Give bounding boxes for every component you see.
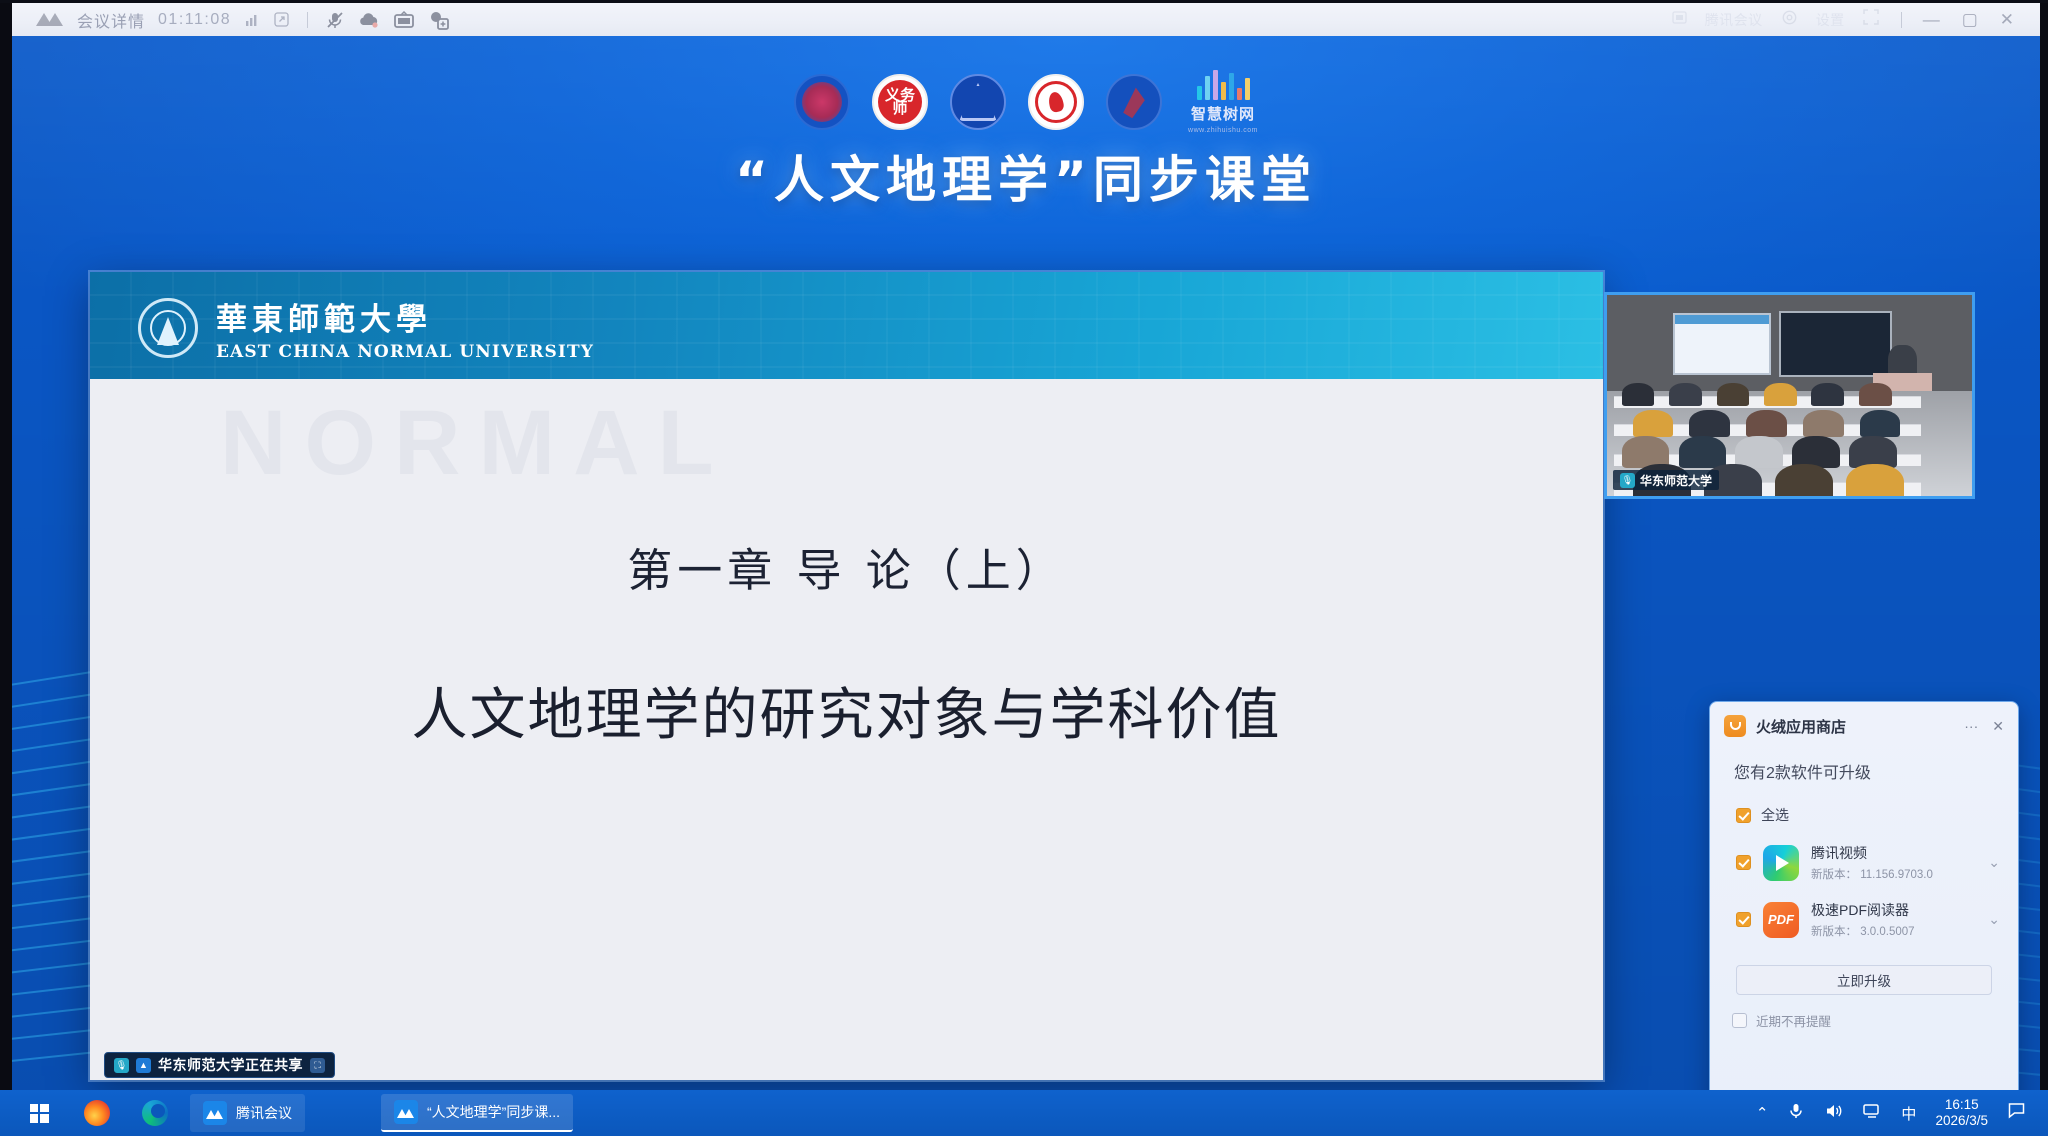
meeting-timer: 01:11:08 (158, 11, 231, 29)
update-item-checkbox[interactable] (1736, 855, 1751, 870)
meeting-title-label: 腾讯会议 (1705, 10, 1763, 30)
university-logo-3-icon (950, 74, 1006, 130)
update-item-name: 腾讯视频 (1811, 843, 1933, 863)
classroom-video (1607, 295, 1972, 496)
taskbar-firefox-button[interactable] (68, 1090, 126, 1136)
maximize-button[interactable]: ▢ (1962, 11, 1978, 28)
settings-label[interactable]: 设置 (1816, 10, 1845, 30)
university-logo-2-icon: 义务师 (872, 74, 928, 130)
university-logo-5-icon (1106, 74, 1162, 130)
university-logo-1-icon (794, 74, 850, 130)
slide-watermark: NORMAL (220, 391, 732, 496)
chevron-down-icon[interactable]: ⌄ (1988, 911, 2004, 928)
toolbar-divider (307, 12, 308, 28)
update-item-row[interactable]: 腾讯视频 新版本： 11.156.9703.0 ⌄ (1710, 825, 2018, 882)
share-screen-icon[interactable] (428, 10, 450, 30)
huorong-title: 火绒应用商店 (1756, 716, 1846, 737)
upgrade-now-button[interactable]: 立即升级 (1736, 965, 1992, 995)
ecnu-branding: 華東師範大學 EAST CHINA NORMAL UNIVERSITY (138, 294, 594, 362)
popout-icon[interactable] (273, 11, 290, 28)
close-button[interactable]: ✕ (2000, 11, 2014, 28)
firefox-icon (84, 1100, 110, 1126)
mic-video-icon: 🎙 (1620, 473, 1635, 488)
mic-small-icon: 🎙 (114, 1058, 129, 1073)
huorong-logo-icon (1724, 715, 1746, 737)
zhihuishu-name: 智慧树网 (1191, 103, 1255, 124)
ecnu-name-cn: 華東師範大學 (216, 294, 594, 339)
ime-indicator[interactable]: 中 (1901, 1103, 1916, 1124)
taskbar-clock[interactable]: 16:15 2026/3/5 (1935, 1097, 1988, 1129)
photo-bezel-right (2040, 0, 2048, 1136)
tencent-video-icon (1763, 845, 1799, 881)
banner-title: “人文地理学”同步课堂 (12, 140, 2040, 212)
clock-date: 2026/3/5 (1935, 1113, 1988, 1129)
slide-subtitle: 人文地理学的研究对象与学科价值 (90, 670, 1603, 751)
huorong-subtitle: 您有2款软件可升级 (1710, 737, 2018, 783)
tencent-meeting-logo-icon (38, 11, 64, 28)
pdf-reader-icon: PDF (1763, 902, 1799, 938)
shared-presentation: 華東師範大學 EAST CHINA NORMAL UNIVERSITY NORM… (90, 272, 1603, 1080)
classroom-projector-screen (1673, 313, 1772, 375)
taskbar-edge-button[interactable] (126, 1090, 184, 1136)
taskbar-task-label: 腾讯会议 (236, 1103, 292, 1123)
zhihuishu-url: www.zhihuishu.com (1188, 127, 1258, 134)
select-all-label: 全选 (1761, 805, 1789, 825)
dont-remind-checkbox[interactable] (1732, 1013, 1747, 1028)
equalizer-icon (1197, 70, 1250, 100)
volume-icon[interactable] (1824, 1102, 1843, 1125)
windows-start-icon (30, 1104, 49, 1123)
slide-chapter-title: 第一章 导 论（上） (90, 534, 1603, 599)
share-small-icon[interactable]: ⛶ (310, 1058, 325, 1073)
start-button[interactable] (10, 1090, 68, 1136)
huorong-app-store-popup[interactable]: 火绒应用商店 ··· ✕ 您有2款软件可升级 全选 腾讯视频 新版本： 11.1… (1709, 701, 2019, 1090)
screen-photo: 会议详情 01:11:08 (0, 0, 2048, 1136)
slide-header: 華東師範大學 EAST CHINA NORMAL UNIVERSITY (90, 272, 1603, 379)
sharing-status-label: 华东师范大学正在共享 (158, 1055, 303, 1075)
taskbar-task-tencent-meeting[interactable]: 腾讯会议 (190, 1094, 305, 1132)
tencent-meeting-small-icon: ▲ (136, 1058, 151, 1073)
video-participant-name: 华东师范大学 (1640, 472, 1712, 489)
ecnu-seal-icon (138, 298, 198, 358)
classroom-tv-display (1779, 311, 1892, 377)
meeting-details-label[interactable]: 会议详情 (77, 8, 145, 32)
university-logo-4-icon (1028, 74, 1084, 130)
edge-icon (142, 1100, 168, 1126)
update-item-name: 极速PDF阅读器 (1811, 900, 1915, 920)
update-item-version: 新版本： 11.156.9703.0 (1811, 866, 1933, 882)
partner-logo-strip: 义务师 智慧树网 www.zhihuishu.com (12, 70, 2040, 134)
clock-time: 16:15 (1945, 1097, 1979, 1113)
network-icon[interactable] (1862, 1102, 1882, 1125)
slide-body: NORMAL 第一章 导 论（上） 人文地理学的研究对象与学科价值 (90, 379, 1603, 1080)
participant-video-tile[interactable]: 🎙 华东师范大学 (1604, 292, 1975, 499)
fullscreen-icon[interactable] (1862, 8, 1880, 31)
window-controls-divider (1901, 12, 1902, 28)
notification-icon[interactable] (2007, 1101, 2026, 1125)
taskbar-task-shared-class[interactable]: “人文地理学”同步课... (381, 1094, 573, 1132)
cloud-record-icon[interactable] (358, 11, 380, 29)
minimize-button[interactable]: — (1923, 11, 1940, 28)
select-all-checkbox[interactable] (1736, 808, 1751, 823)
settings-gear-icon[interactable] (1780, 8, 1799, 32)
windows-taskbar: 腾讯会议 “人文地理学”同步课... ⌃ 中 16:15 2026/3/5 (0, 1090, 2048, 1136)
update-item-row[interactable]: PDF 极速PDF阅读器 新版本： 3.0.0.5007 ⌄ (1710, 882, 2018, 939)
sharing-status-badge: 🎙 ▲ 华东师范大学正在共享 ⛶ (104, 1052, 335, 1078)
tencent-meeting-icon (394, 1100, 418, 1124)
chevron-down-icon[interactable]: ⌄ (1988, 854, 2004, 871)
meeting-toolbar: 会议详情 01:11:08 (12, 3, 2040, 36)
update-item-checkbox[interactable] (1736, 912, 1751, 927)
taskbar-task-label: “人文地理学”同步课... (427, 1102, 560, 1122)
meeting-info-icon[interactable] (1671, 9, 1688, 31)
zhihuishu-logo: 智慧树网 www.zhihuishu.com (1188, 70, 1258, 134)
huorong-more-button[interactable]: ··· (1964, 718, 1978, 734)
mic-muted-icon[interactable] (325, 10, 345, 30)
microphone-icon[interactable] (1787, 1102, 1805, 1125)
select-all-row[interactable]: 全选 (1710, 783, 2018, 825)
huorong-close-icon[interactable]: ✕ (1992, 718, 2004, 735)
signal-icon[interactable] (244, 12, 260, 28)
dont-remind-label: 近期不再提醒 (1756, 1011, 1831, 1030)
update-item-version: 新版本： 3.0.0.5007 (1811, 923, 1915, 939)
photo-bezel-left (0, 0, 12, 1136)
live-icon[interactable] (393, 11, 415, 29)
tray-chevron-up-icon[interactable]: ⌃ (1756, 1104, 1769, 1122)
dont-remind-row[interactable]: 近期不再提醒 (1710, 995, 2018, 1030)
ecnu-name-en: EAST CHINA NORMAL UNIVERSITY (216, 342, 594, 362)
huorong-header: 火绒应用商店 ··· ✕ (1710, 702, 2018, 737)
video-name-label: 🎙 华东师范大学 (1613, 470, 1719, 490)
tencent-meeting-icon (203, 1101, 227, 1125)
meeting-stage: 义务师 智慧树网 www.zhihuishu.com “人文地理学”同步课堂 (12, 36, 2040, 1090)
